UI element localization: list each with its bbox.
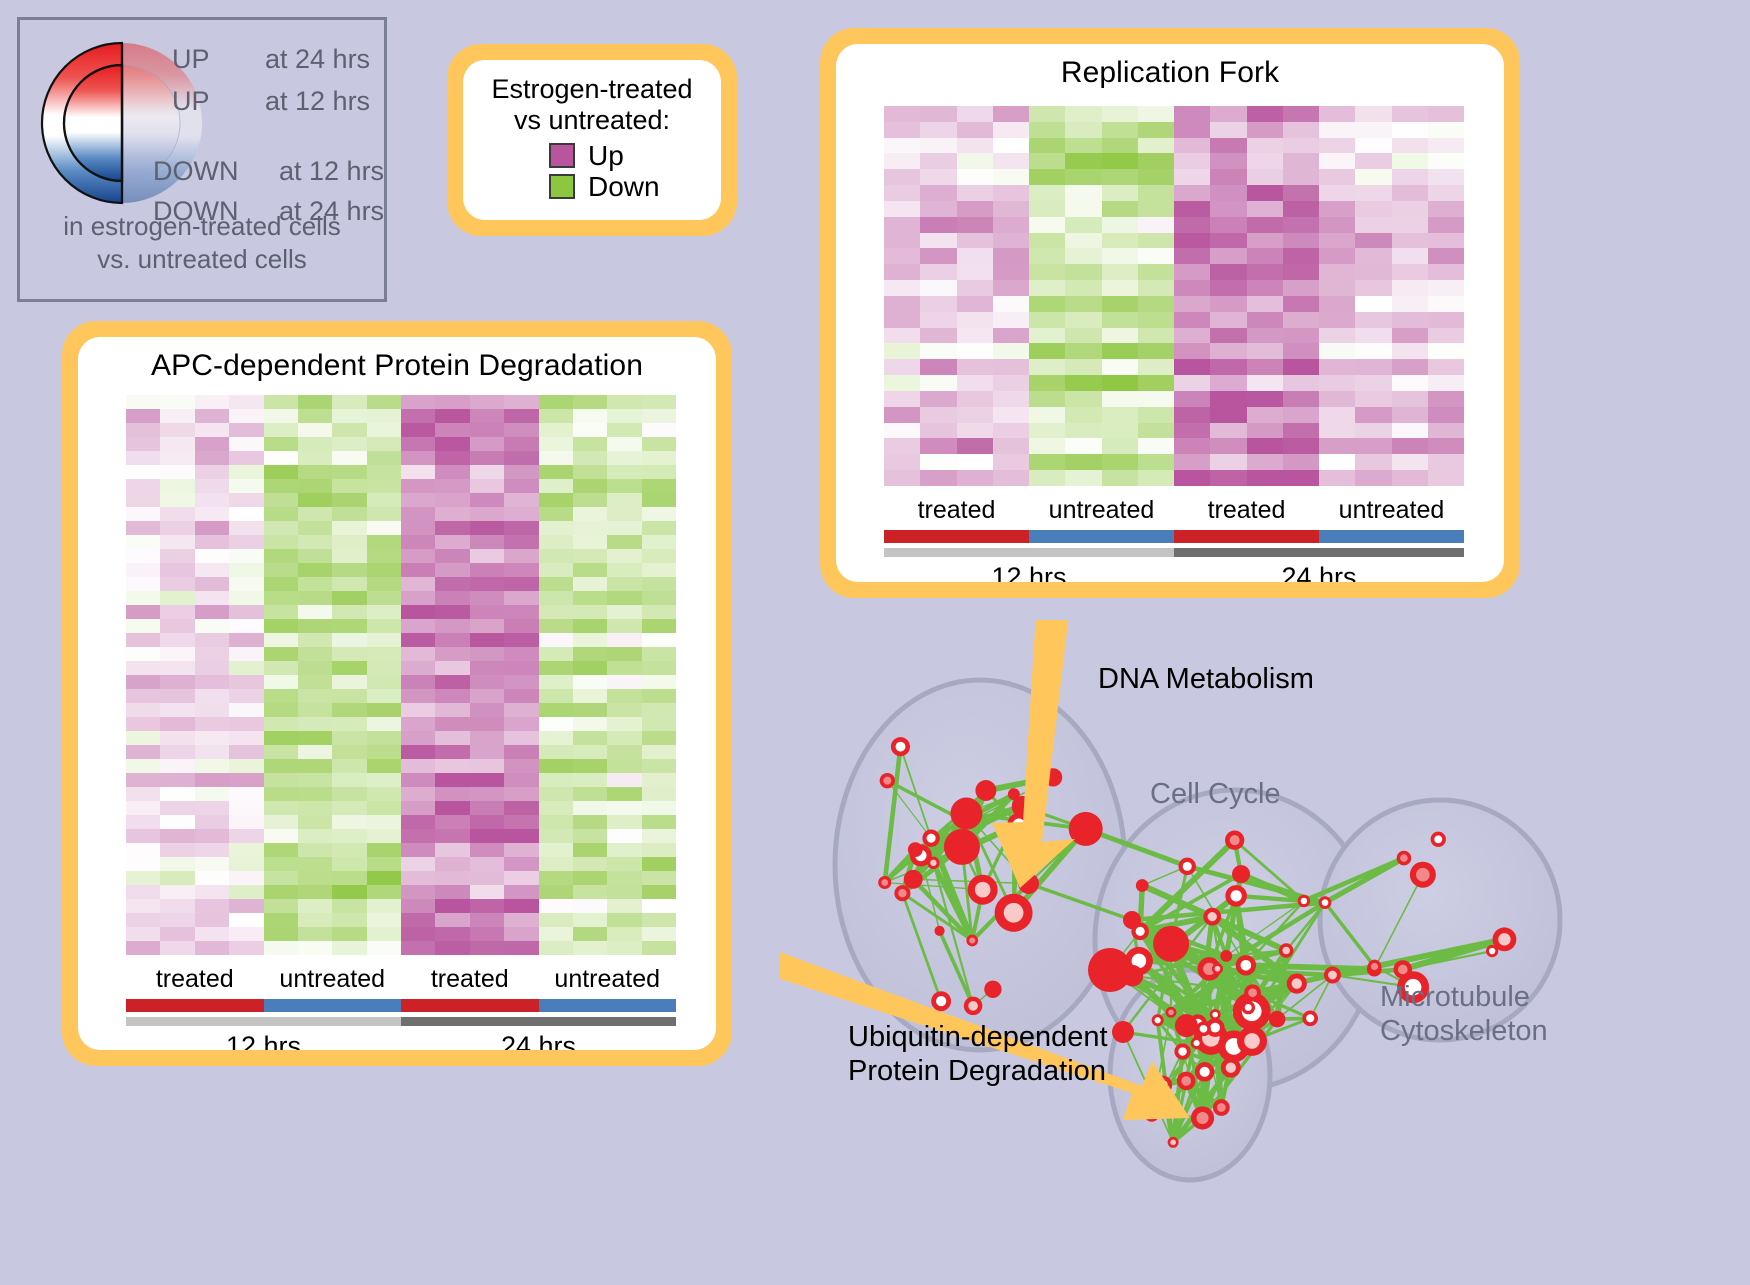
- heatmap-cell: [607, 423, 641, 437]
- heatmap-cell: [1247, 470, 1283, 486]
- network-node[interactable]: [1195, 1062, 1214, 1081]
- heatmap-cell: [884, 217, 920, 233]
- network-node[interactable]: [1397, 851, 1412, 866]
- apc-bar-untreated-12: [264, 999, 402, 1012]
- heatmap-cell: [993, 296, 1029, 312]
- network-node[interactable]: [1287, 974, 1307, 994]
- heatmap-cell: [264, 913, 298, 927]
- heatmap-cell: [607, 549, 641, 563]
- heatmap-cell: [573, 885, 607, 899]
- heatmap-cell: [264, 857, 298, 871]
- heatmap-cell: [401, 479, 435, 493]
- heatmap-cell: [160, 479, 194, 493]
- heatmap-cell: [1319, 185, 1355, 201]
- network-node[interactable]: [922, 829, 939, 846]
- heatmap-cell: [126, 633, 160, 647]
- heatmap-cell: [1102, 248, 1138, 264]
- heatmap-cell: [435, 843, 469, 857]
- heatmap-cell: [504, 829, 538, 843]
- heatmap-cell: [195, 661, 229, 675]
- heatmap-cell: [435, 745, 469, 759]
- heatmap-cell: [1138, 201, 1174, 217]
- heatmap-cell: [1102, 312, 1138, 328]
- heatmap-cell: [1065, 391, 1101, 407]
- heatmap-cell: [401, 409, 435, 423]
- network-node[interactable]: [1196, 1021, 1211, 1036]
- heatmap-cell: [435, 927, 469, 941]
- heatmap-cell: [264, 759, 298, 773]
- heatmap-cell: [264, 619, 298, 633]
- heatmap-cell: [642, 731, 676, 745]
- heatmap-cell: [1138, 470, 1174, 486]
- network-node[interactable]: [1112, 1021, 1134, 1043]
- heatmap-cell: [298, 773, 332, 787]
- heatmap-cell: [1392, 248, 1428, 264]
- heatmap-cell: [1355, 438, 1391, 454]
- network-node[interactable]: [1324, 967, 1341, 984]
- heatmap-cell: [470, 885, 504, 899]
- heatmap-cell: [1428, 296, 1464, 312]
- network-node[interactable]: [1213, 1099, 1230, 1116]
- heatmap-cell: [470, 843, 504, 857]
- heatmap-cell: [470, 619, 504, 633]
- heatmap-cell: [1355, 375, 1391, 391]
- heatmap-cell: [957, 328, 993, 344]
- heatmap-cell: [1247, 438, 1283, 454]
- heatmap-cell: [1319, 407, 1355, 423]
- heatmap-cell: [1029, 312, 1065, 328]
- heatmap-cell: [332, 731, 366, 745]
- network-node[interactable]: [904, 870, 923, 889]
- heatmap-cell: [367, 899, 401, 913]
- heatmap-cell: [607, 871, 641, 885]
- figure-canvas: UP at 24 hrs UP at 12 hrs DOWN at 12 hrs…: [0, 0, 1750, 1279]
- heatmap-cell: [1392, 169, 1428, 185]
- heatmap-cell: [539, 535, 573, 549]
- heatmap-cell: [401, 465, 435, 479]
- heatmap-cell: [1319, 312, 1355, 328]
- heatmap-cell: [539, 689, 573, 703]
- heatmap-cell: [1283, 217, 1319, 233]
- network-node[interactable]: [1175, 1014, 1198, 1037]
- heatmap-cell: [367, 843, 401, 857]
- heatmap-cell: [160, 409, 194, 423]
- heatmap-cell: [298, 843, 332, 857]
- heatmap-cell: [160, 605, 194, 619]
- network-node[interactable]: [931, 991, 951, 1011]
- heatmap-cell: [539, 843, 573, 857]
- heatmap-cell: [195, 815, 229, 829]
- heatmap-cell: [264, 451, 298, 465]
- heatmap-cell: [298, 703, 332, 717]
- heatmap-cell: [126, 815, 160, 829]
- heatmap-cell: [264, 465, 298, 479]
- heatmap-cell: [573, 899, 607, 913]
- heatmap-cell: [884, 280, 920, 296]
- heatmap-cell: [642, 507, 676, 521]
- heatmap-cell: [126, 395, 160, 409]
- heatmap-cell: [1174, 264, 1210, 280]
- heatmap-cell: [1210, 153, 1246, 169]
- apc-condition-bar: [126, 999, 676, 1012]
- heatmap-cell: [435, 717, 469, 731]
- heatmap-cell: [435, 913, 469, 927]
- network-node[interactable]: [1153, 926, 1189, 962]
- network-node[interactable]: [1069, 812, 1103, 846]
- network-node[interactable]: [1203, 908, 1221, 926]
- network-node[interactable]: [878, 876, 891, 889]
- heatmap-cell: [1319, 343, 1355, 359]
- heatmap-cell: [401, 535, 435, 549]
- network-node[interactable]: [935, 926, 945, 936]
- heatmap-cell: [195, 857, 229, 871]
- network-node[interactable]: [1232, 865, 1250, 883]
- heatmap-cell: [1428, 328, 1464, 344]
- heatmap-cell: [607, 591, 641, 605]
- heatmap-cell: [1174, 201, 1210, 217]
- network-node[interactable]: [995, 894, 1033, 932]
- heatmap-cell: [435, 619, 469, 633]
- heatmap-cell: [332, 829, 366, 843]
- heatmap-cell: [470, 507, 504, 521]
- heatmap-cell: [607, 787, 641, 801]
- network-node[interactable]: [966, 935, 978, 947]
- network-node[interactable]: [1237, 1026, 1267, 1056]
- network-node[interactable]: [1394, 960, 1413, 979]
- heatmap-cell: [884, 454, 920, 470]
- heatmap-cell: [264, 717, 298, 731]
- network-node[interactable]: [894, 885, 910, 901]
- heatmap-cell: [607, 619, 641, 633]
- heatmap-cell: [642, 535, 676, 549]
- heatmap-cell: [229, 745, 263, 759]
- heatmap-cell: [367, 787, 401, 801]
- heatmap-cell: [126, 801, 160, 815]
- network-node[interactable]: [880, 773, 895, 788]
- heatmap-cell: [160, 395, 194, 409]
- heatmap-cell: [993, 106, 1029, 122]
- heatmap-cell: [229, 395, 263, 409]
- heatmap-cell: [957, 454, 993, 470]
- heatmap-cell: [1428, 391, 1464, 407]
- heatmap-cell: [884, 296, 920, 312]
- heatmap-cell: [539, 563, 573, 577]
- heatmap-cell: [160, 773, 194, 787]
- cluster-label-microtubule: Microtubule Cytoskeleton: [1380, 980, 1548, 1048]
- network-node[interactable]: [1279, 943, 1294, 958]
- heatmap-cell: [607, 829, 641, 843]
- heatmap-cell: [367, 647, 401, 661]
- heatmap-cell: [993, 280, 1029, 296]
- network-node[interactable]: [1319, 896, 1332, 909]
- heatmap-cell: [298, 591, 332, 605]
- heatmap-cell: [1029, 201, 1065, 217]
- heatmap-cell: [126, 731, 160, 745]
- network-node[interactable]: [1244, 984, 1261, 1001]
- heatmap-cell: [1355, 217, 1391, 233]
- heatmap-cell: [539, 731, 573, 745]
- heatmap-cell: [1428, 312, 1464, 328]
- network-node[interactable]: [968, 875, 998, 905]
- heatmap-cell: [1392, 201, 1428, 217]
- heatmap-cell: [539, 927, 573, 941]
- heatmap-cell: [1319, 169, 1355, 185]
- heatmap-cell: [642, 577, 676, 591]
- network-node[interactable]: [1298, 895, 1310, 907]
- heatmap-cell: [1247, 217, 1283, 233]
- heatmap-cell: [195, 395, 229, 409]
- heatmap-cell: [539, 857, 573, 871]
- network-node[interactable]: [927, 857, 939, 869]
- heatmap-cell: [1065, 122, 1101, 138]
- heatmap-cell: [229, 423, 263, 437]
- heatmap-cell: [642, 423, 676, 437]
- heatmap-cell: [332, 745, 366, 759]
- heatmap-cell: [1319, 138, 1355, 154]
- heatmap-cell: [642, 675, 676, 689]
- network-node[interactable]: [1191, 1106, 1214, 1129]
- heatmap-cell: [1355, 248, 1391, 264]
- heatmap-cell: [1283, 296, 1319, 312]
- heatmap-cell: [920, 359, 956, 375]
- heatmap-cell: [1355, 106, 1391, 122]
- legend-title-line-1: Estrogen-treated: [473, 74, 711, 105]
- heatmap-cell: [642, 605, 676, 619]
- network-node[interactable]: [964, 997, 983, 1016]
- down-color-swatch: [549, 174, 575, 199]
- heatmap-cell: [126, 465, 160, 479]
- heatmap-cell: [642, 857, 676, 871]
- network-node[interactable]: [891, 737, 910, 756]
- heatmap-cell: [195, 675, 229, 689]
- heatmap-cell: [229, 577, 263, 591]
- network-node[interactable]: [1241, 1001, 1255, 1015]
- network-node[interactable]: [1152, 1014, 1164, 1026]
- heatmap-cell: [470, 423, 504, 437]
- heatmap-cell: [401, 913, 435, 927]
- network-node[interactable]: [1136, 879, 1149, 892]
- heatmap-cell: [367, 633, 401, 647]
- heatmap-cell: [607, 731, 641, 745]
- rf-time-bar-12: [884, 548, 1174, 557]
- heatmap-cell: [1210, 217, 1246, 233]
- heatmap-cell: [504, 787, 538, 801]
- heatmap-cell: [1247, 122, 1283, 138]
- heatmap-cell: [1174, 375, 1210, 391]
- heatmap-cell: [435, 395, 469, 409]
- heatmap-cell: [298, 899, 332, 913]
- heatmap-cell: [1283, 454, 1319, 470]
- heatmap-cell: [126, 913, 160, 927]
- network-node[interactable]: [962, 817, 973, 828]
- legend-items: Up Down: [473, 142, 711, 201]
- network-node[interactable]: [1123, 911, 1141, 929]
- heatmap-cell: [298, 423, 332, 437]
- heatmap-cell: [160, 913, 194, 927]
- heatmap-cell: [642, 619, 676, 633]
- heatmap-cell: [1283, 375, 1319, 391]
- heatmap-cell: [1138, 217, 1174, 233]
- network-node[interactable]: [1302, 1010, 1318, 1026]
- heatmap-cell: [367, 479, 401, 493]
- heatmap-cell: [993, 407, 1029, 423]
- heatmap-cell: [1210, 248, 1246, 264]
- heatmap-cell: [957, 423, 993, 439]
- network-node[interactable]: [1236, 955, 1256, 975]
- heatmap-cell: [1428, 248, 1464, 264]
- network-node[interactable]: [1088, 948, 1132, 992]
- heatmap-cell: [642, 409, 676, 423]
- heatmap-cell: [1065, 423, 1101, 439]
- heatmap-cell: [1247, 312, 1283, 328]
- heatmap-cell: [264, 899, 298, 913]
- apc-degradation-title: APC-dependent Protein Degradation: [78, 337, 716, 383]
- network-node[interactable]: [1191, 1037, 1203, 1049]
- heatmap-cell: [195, 759, 229, 773]
- heatmap-cell: [1428, 423, 1464, 439]
- heatmap-cell: [642, 787, 676, 801]
- replication-fork-condition-labels: treated untreated treated untreated: [884, 496, 1464, 525]
- network-node[interactable]: [1410, 862, 1436, 888]
- heatmap-cell: [1355, 296, 1391, 312]
- heatmap-cell: [993, 248, 1029, 264]
- heatmap-cell: [435, 787, 469, 801]
- heatmap-cell: [607, 395, 641, 409]
- network-node[interactable]: [1269, 1011, 1286, 1028]
- network-node[interactable]: [1168, 1137, 1179, 1148]
- rf-cond-label-1: untreated: [1029, 496, 1174, 525]
- heatmap-cell: [298, 633, 332, 647]
- network-node[interactable]: [1210, 1009, 1221, 1020]
- network-node[interactable]: [1212, 963, 1223, 974]
- heatmap-cell: [332, 899, 366, 913]
- heatmap-cell: [435, 941, 469, 955]
- replication-fork-time-labels: 12 hrs 24 hrs: [884, 562, 1464, 582]
- network-node[interactable]: [1221, 1058, 1241, 1078]
- heatmap-cell: [470, 451, 504, 465]
- heatmap-cell: [229, 815, 263, 829]
- network-node[interactable]: [1220, 950, 1232, 962]
- heatmap-cell: [160, 927, 194, 941]
- heatmap-cell: [1102, 343, 1138, 359]
- heatmap-cell: [1102, 185, 1138, 201]
- heatmap-cell: [298, 717, 332, 731]
- heatmap-cell: [1283, 264, 1319, 280]
- network-node[interactable]: [1368, 960, 1382, 974]
- heatmap-cell: [1392, 217, 1428, 233]
- heatmap-cell: [195, 507, 229, 521]
- heatmap-cell: [126, 591, 160, 605]
- heatmap-cell: [1247, 391, 1283, 407]
- heatmap-cell: [504, 689, 538, 703]
- heatmap-cell: [504, 563, 538, 577]
- heatmap-cell: [504, 521, 538, 535]
- heatmap-cell: [1428, 280, 1464, 296]
- heatmap-cell: [367, 423, 401, 437]
- network-node[interactable]: [1166, 1007, 1177, 1018]
- heatmap-cell: [607, 913, 641, 927]
- heatmap-cell: [642, 815, 676, 829]
- heatmap-cell: [470, 801, 504, 815]
- heatmap-cell: [229, 689, 263, 703]
- heatmap-cell: [1138, 280, 1174, 296]
- heatmap-cell: [126, 899, 160, 913]
- heatmap-cell: [1283, 138, 1319, 154]
- heatmap-cell: [126, 577, 160, 591]
- network-node[interactable]: [1225, 830, 1244, 849]
- heatmap-cell: [435, 661, 469, 675]
- heatmap-cell: [884, 122, 920, 138]
- heatmap-cell: [642, 703, 676, 717]
- heatmap-cell: [332, 619, 366, 633]
- heatmap-cell: [1174, 106, 1210, 122]
- heatmap-cell: [504, 661, 538, 675]
- heatmap-cell: [160, 451, 194, 465]
- heatmap-cell: [1392, 407, 1428, 423]
- heatmap-cell: [435, 423, 469, 437]
- heatmap-cell: [1174, 328, 1210, 344]
- heatmap-cell: [1247, 106, 1283, 122]
- heatmap-cell: [607, 507, 641, 521]
- network-node[interactable]: [1225, 885, 1247, 907]
- heatmap-cell: [607, 941, 641, 955]
- network-node[interactable]: [1431, 832, 1446, 847]
- network-node[interactable]: [944, 829, 980, 865]
- heatmap-cell: [264, 647, 298, 661]
- heatmap-cell: [229, 409, 263, 423]
- heatmap-cell: [435, 647, 469, 661]
- network-node[interactable]: [1486, 945, 1498, 957]
- heatmap-cell: [195, 787, 229, 801]
- heatmap-cell: [957, 312, 993, 328]
- network-node[interactable]: [975, 780, 996, 801]
- network-node[interactable]: [1179, 858, 1196, 875]
- heatmap-cell: [367, 829, 401, 843]
- heatmap-cell: [435, 507, 469, 521]
- heatmap-cell: [1029, 153, 1065, 169]
- heatmap-cell: [884, 248, 920, 264]
- network-node[interactable]: [984, 981, 1001, 998]
- network-node[interactable]: [908, 842, 923, 857]
- heatmap-cell: [126, 647, 160, 661]
- network-node[interactable]: [1174, 1043, 1190, 1059]
- heatmap-cell: [573, 409, 607, 423]
- heatmap-cell: [126, 829, 160, 843]
- heatmap-cell: [160, 899, 194, 913]
- key-ring-2-time: at 12 hrs: [265, 86, 370, 117]
- heatmap-cell: [642, 591, 676, 605]
- heatmap-cell: [1138, 454, 1174, 470]
- heatmap-cell: [332, 857, 366, 871]
- heatmap-cell: [435, 479, 469, 493]
- heatmap-cell: [367, 563, 401, 577]
- heatmap-cell: [642, 647, 676, 661]
- heatmap-cell: [298, 675, 332, 689]
- heatmap-cell: [401, 899, 435, 913]
- heatmap-cell: [401, 801, 435, 815]
- heatmap-cell: [229, 885, 263, 899]
- network-node[interactable]: [1177, 1072, 1196, 1091]
- heatmap-cell: [298, 885, 332, 899]
- heatmap-cell: [1355, 454, 1391, 470]
- heatmap-cell: [607, 843, 641, 857]
- heatmap-cell: [126, 437, 160, 451]
- heatmap-cell: [229, 507, 263, 521]
- heatmap-cell: [367, 409, 401, 423]
- heatmap-cell: [298, 731, 332, 745]
- heatmap-cell: [1138, 343, 1174, 359]
- heatmap-cell: [1065, 106, 1101, 122]
